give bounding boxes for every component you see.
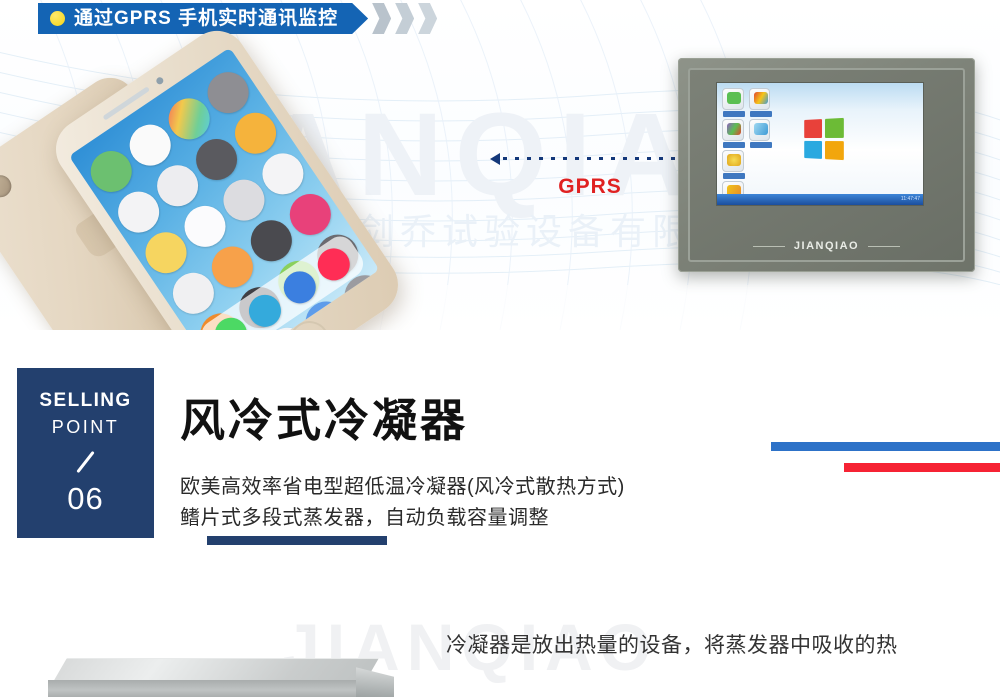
hero-section: JIANQIAO 东莞市剑乔试验设备有限公司 通过GPRS 手机实时通讯监控 — [0, 0, 1000, 330]
hmi-bezel: 11:47:47 JIANQIAO — [688, 68, 965, 262]
product-detail-page: JIANQIAO 东莞市剑乔试验设备有限公司 通过GPRS 手机实时通讯监控 — [0, 0, 1000, 697]
selling-label: SELLING — [39, 390, 131, 412]
bullet-dot-icon — [50, 11, 65, 26]
hmi-brand-label: JIANQIAO — [690, 240, 963, 252]
feature-subtitle-line-2: 鳍片式多段式蒸发器，自动负载容量调整 — [180, 503, 625, 534]
hmi-icon-row — [722, 88, 770, 110]
chamber-body — [48, 680, 372, 697]
hmi-icon-row — [722, 150, 770, 172]
hmi-app-icon-2 — [749, 88, 771, 110]
section-title-bar: 通过GPRS 手机实时通讯监控 — [38, 3, 437, 34]
chevron-icon-3 — [418, 3, 437, 34]
hmi-app-icon-4 — [749, 119, 771, 141]
chevron-icon-1 — [372, 3, 391, 34]
arrow-left-icon — [490, 153, 500, 165]
hmi-app-icon-1 — [722, 88, 744, 110]
phone-dock-icon — [277, 265, 321, 309]
hmi-taskbar: 11:47:47 — [717, 194, 923, 205]
section-title-text: 通过GPRS 手机实时通讯监控 — [74, 3, 338, 34]
gprs-label: GPRS — [490, 175, 690, 199]
slash-divider-icon — [71, 447, 101, 477]
selling-point-number: 06 — [67, 481, 103, 517]
hmi-icon-column — [722, 88, 770, 206]
section-title-blue-arrow: 通过GPRS 手机实时通讯监控 — [38, 3, 368, 34]
accent-bar-red — [844, 463, 1000, 472]
hmi-screen: 11:47:47 — [716, 82, 924, 206]
brand-divider-left — [753, 246, 785, 247]
chamber-side-panel — [356, 667, 394, 697]
point-label: POINT — [52, 417, 120, 438]
brand-divider-right — [868, 246, 900, 247]
hmi-icon-row — [722, 119, 770, 141]
feature-underline-bar — [207, 536, 387, 545]
feature-title: 风冷式冷凝器 — [180, 398, 468, 443]
smartphone-photo — [10, 40, 430, 300]
gprs-arrow-line — [490, 152, 690, 166]
phone-camera-icon — [0, 171, 16, 202]
feature-subtitle-line-1: 欧美高效率省电型超低温冷凝器(风冷式散热方式) — [180, 472, 625, 503]
hmi-brand-text: JIANQIAO — [794, 240, 859, 252]
chevron-icon-2 — [395, 3, 414, 34]
hmi-clock: 11:47:47 — [901, 196, 920, 202]
hmi-touch-panel: 11:47:47 JIANQIAO — [678, 58, 975, 272]
gprs-link-indicator: GPRS — [490, 152, 690, 199]
windows-logo-icon — [804, 118, 844, 160]
dotted-line-icon — [503, 157, 677, 160]
chamber-product-photo — [40, 658, 392, 697]
description-text: 冷凝器是放出热量的设备，将蒸发器中吸收的热 — [446, 630, 898, 662]
chamber-top-surface — [53, 658, 379, 682]
phone-dock-icon — [243, 288, 287, 330]
phone-dock-icon — [312, 242, 356, 286]
feature-subtitle: 欧美高效率省电型超低温冷凝器(风冷式散热方式) 鳍片式多段式蒸发器，自动负载容量… — [180, 472, 625, 534]
phone-front-camera-icon — [155, 76, 165, 86]
selling-point-badge: SELLING POINT 06 — [17, 368, 154, 538]
accent-bar-blue — [771, 442, 1000, 451]
hmi-app-icon-3 — [722, 119, 744, 141]
hmi-app-icon-5 — [722, 150, 744, 172]
